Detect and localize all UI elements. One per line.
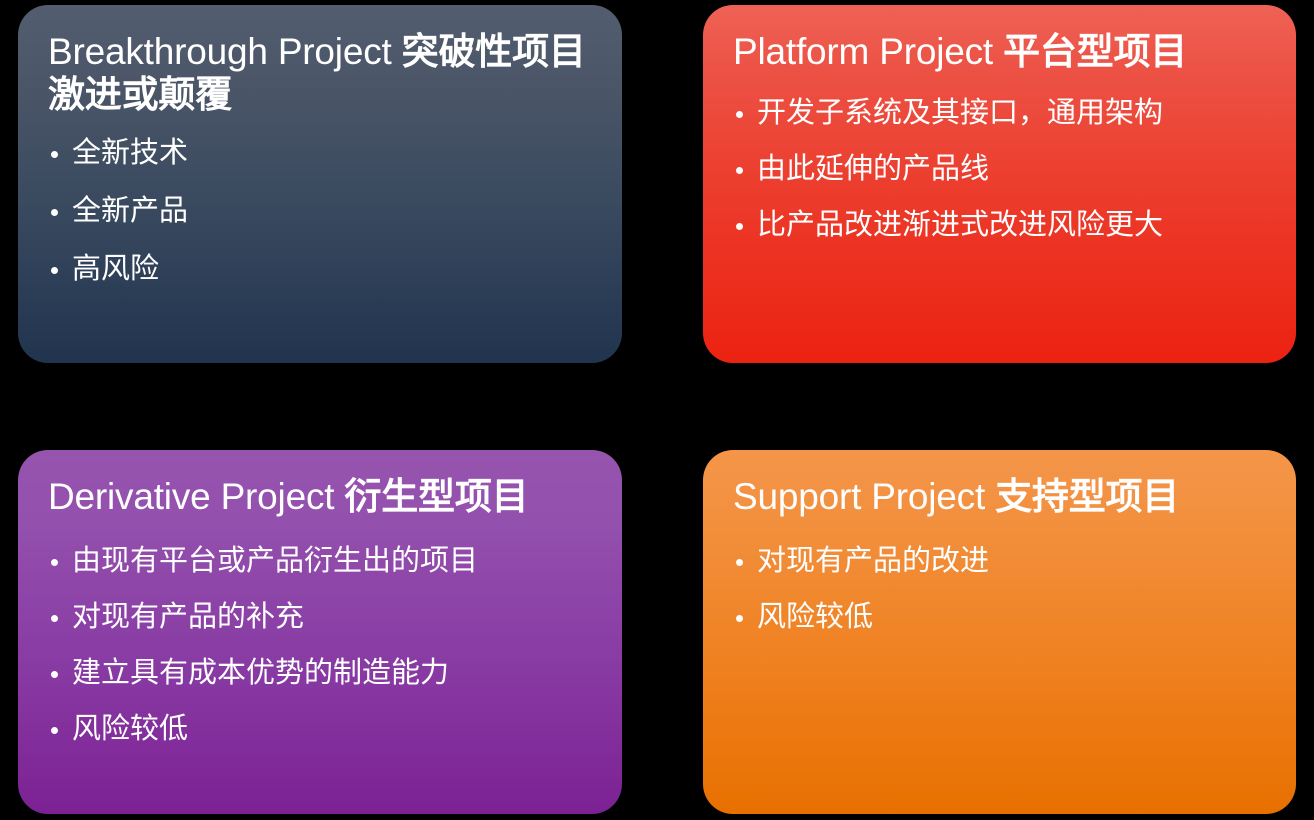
card-title-support: Support Project 支持型项目 (733, 476, 1266, 519)
card-content: Support Project 支持型项目 对现有产品的改进 风险较低 (703, 450, 1296, 814)
card-derivative-project[interactable]: Derivative Project 衍生型项目 由现有平台或产品衍生出的项目 … (18, 450, 622, 814)
list-item: 风险较低 (48, 715, 592, 744)
list-item: 由此延伸的产品线 (733, 155, 1266, 184)
card-title-en: Platform Project (733, 31, 1003, 72)
list-item: 全新产品 (48, 197, 592, 226)
list-item: 对现有产品的补充 (48, 603, 592, 632)
bullet-list-platform: 开发子系统及其接口，通用架构 由此延伸的产品线 比产品改进渐进式改进风险更大 (733, 99, 1266, 240)
card-title-en: Derivative Project (48, 476, 344, 517)
card-title-cn: 支持型项目 (995, 476, 1179, 517)
card-title-breakthrough: Breakthrough Project 突破性项目 激进或颠覆 (48, 31, 592, 117)
list-item: 全新技术 (48, 139, 592, 168)
list-item: 高风险 (48, 255, 592, 284)
card-breakthrough-project[interactable]: Breakthrough Project 突破性项目 激进或颠覆 全新技术 全新… (18, 5, 622, 363)
card-content: Platform Project 平台型项目 开发子系统及其接口，通用架构 由此… (703, 5, 1296, 363)
card-title-en: Breakthrough Project (48, 31, 402, 72)
list-item: 由现有平台或产品衍生出的项目 (48, 547, 592, 576)
list-item: 开发子系统及其接口，通用架构 (733, 99, 1266, 128)
bullet-list-support: 对现有产品的改进 风险较低 (733, 547, 1266, 632)
card-content: Breakthrough Project 突破性项目 激进或颠覆 全新技术 全新… (18, 5, 622, 363)
card-title-derivative: Derivative Project 衍生型项目 (48, 476, 592, 519)
list-item: 风险较低 (733, 603, 1266, 632)
bullet-list-derivative: 由现有平台或产品衍生出的项目 对现有产品的补充 建立具有成本优势的制造能力 风险… (48, 547, 592, 744)
card-title-platform: Platform Project 平台型项目 (733, 31, 1266, 74)
list-item: 建立具有成本优势的制造能力 (48, 659, 592, 688)
card-title-cn: 衍生型项目 (344, 476, 528, 517)
bullet-list-breakthrough: 全新技术 全新产品 高风险 (48, 139, 592, 284)
card-title-cn: 平台型项目 (1003, 31, 1187, 72)
card-support-project[interactable]: Support Project 支持型项目 对现有产品的改进 风险较低 (703, 450, 1296, 814)
card-content: Derivative Project 衍生型项目 由现有平台或产品衍生出的项目 … (18, 450, 622, 814)
card-platform-project[interactable]: Platform Project 平台型项目 开发子系统及其接口，通用架构 由此… (703, 5, 1296, 363)
project-type-matrix: Breakthrough Project 突破性项目 激进或颠覆 全新技术 全新… (0, 0, 1314, 820)
card-title-en: Support Project (733, 476, 995, 517)
list-item: 对现有产品的改进 (733, 547, 1266, 576)
list-item: 比产品改进渐进式改进风险更大 (733, 211, 1266, 240)
